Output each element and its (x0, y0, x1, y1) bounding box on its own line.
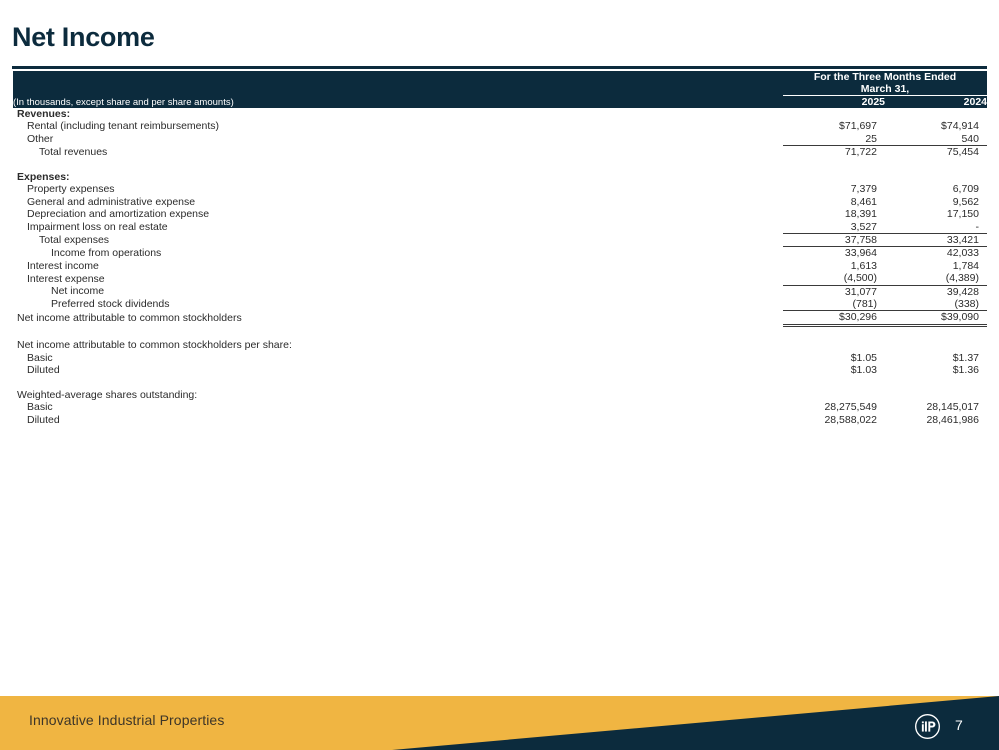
row-value-2025: 71,722 (783, 146, 885, 159)
row-value-2024: 1,784 (885, 260, 987, 272)
row-value-2025: $71,697 (783, 120, 885, 132)
period-header-line2: March 31, (783, 83, 987, 96)
row-value-2025: $1.03 (783, 364, 885, 376)
table-row: Total expenses37,75833,421 (13, 234, 987, 247)
row-label: Diluted (13, 414, 783, 426)
table-header-date-row: March 31, (13, 83, 987, 96)
row-label: General and administrative expense (13, 196, 783, 208)
table-spacer-row (13, 159, 987, 171)
header-spacer (13, 71, 783, 83)
table-row: Interest expense(4,500)(4,389) (13, 272, 987, 285)
row-label: Net income (13, 285, 783, 298)
table-row: Property expenses7,3796,709 (13, 183, 987, 195)
table-row: Preferred stock dividends(781)(338) (13, 298, 987, 311)
row-value-2024 (885, 171, 987, 183)
row-label: Property expenses (13, 183, 783, 195)
row-value-2025: 3,527 (783, 221, 885, 234)
table-row: Net income attributable to common stockh… (13, 339, 987, 351)
row-value-2025 (783, 159, 885, 171)
row-label: Interest income (13, 260, 783, 272)
table-row: Interest income1,6131,784 (13, 260, 987, 272)
row-label: Preferred stock dividends (13, 298, 783, 311)
row-label: Impairment loss on real estate (13, 221, 783, 234)
row-label: Total revenues (13, 146, 783, 159)
footer-bar: Innovative Industrial Properties (0, 696, 999, 750)
row-value-2024: 28,145,017 (885, 401, 987, 413)
table-row: Diluted28,588,02228,461,986 (13, 414, 987, 426)
table-row: Impairment loss on real estate3,527- (13, 221, 987, 234)
iip-circular-monogram-icon (914, 713, 941, 740)
row-value-2025: 31,077 (783, 285, 885, 298)
table-spacer-row (13, 325, 987, 339)
row-label: Income from operations (13, 247, 783, 260)
table-row: Depreciation and amortization expense18,… (13, 208, 987, 220)
row-value-2024: 28,461,986 (885, 414, 987, 426)
row-value-2024 (885, 389, 987, 401)
row-label: Expenses: (13, 171, 783, 183)
page-title: Net Income (12, 22, 155, 53)
table-header-year-row: (In thousands, except share and per shar… (13, 96, 987, 109)
row-label: Total expenses (13, 234, 783, 247)
row-value-2024: 9,562 (885, 196, 987, 208)
row-label: Rental (including tenant reimbursements) (13, 120, 783, 132)
row-value-2025: 28,275,549 (783, 401, 885, 413)
row-value-2024: - (885, 221, 987, 234)
row-label: Diluted (13, 364, 783, 376)
row-value-2025 (783, 171, 885, 183)
row-value-2025: 33,964 (783, 247, 885, 260)
table-row: Weighted-average shares outstanding: (13, 389, 987, 401)
table-row: Rental (including tenant reimbursements)… (13, 120, 987, 132)
row-label: Other (13, 133, 783, 146)
row-value-2025: $30,296 (783, 311, 885, 325)
period-header-line1: For the Three Months Ended (783, 71, 987, 83)
row-value-2025: 37,758 (783, 234, 885, 247)
row-label: Interest expense (13, 272, 783, 285)
row-label: Revenues: (13, 108, 783, 120)
table-row: Revenues: (13, 108, 987, 120)
row-value-2025: (4,500) (783, 272, 885, 285)
row-value-2024: 75,454 (885, 146, 987, 159)
column-header-2024: 2024 (885, 96, 987, 109)
net-income-table-container: For the Three Months Ended March 31, (In… (13, 71, 987, 426)
row-value-2024: 6,709 (885, 183, 987, 195)
table-spacer-row (13, 377, 987, 389)
row-value-2025 (783, 108, 885, 120)
row-value-2024 (885, 377, 987, 389)
row-label: Basic (13, 401, 783, 413)
row-value-2025: 7,379 (783, 183, 885, 195)
brand-name: Innovative Industrial Properties (29, 712, 224, 728)
row-value-2025 (783, 339, 885, 351)
table-row: General and administrative expense8,4619… (13, 196, 987, 208)
row-value-2025 (783, 389, 885, 401)
title-divider (12, 66, 987, 69)
row-value-2024: 33,421 (885, 234, 987, 247)
table-row: Net income31,07739,428 (13, 285, 987, 298)
row-value-2025: 25 (783, 133, 885, 146)
row-value-2025: 8,461 (783, 196, 885, 208)
row-label (13, 325, 783, 339)
row-value-2024: $1.37 (885, 352, 987, 364)
table-body: Revenues:Rental (including tenant reimbu… (13, 108, 987, 426)
row-value-2024: (338) (885, 298, 987, 311)
row-value-2024: (4,389) (885, 272, 987, 285)
table-header-period-row: For the Three Months Ended (13, 71, 987, 83)
row-value-2024 (885, 159, 987, 171)
column-header-2025: 2025 (783, 96, 885, 109)
table-row: Basic28,275,54928,145,017 (13, 401, 987, 413)
net-income-table: For the Three Months Ended March 31, (In… (13, 71, 987, 426)
row-value-2025: 1,613 (783, 260, 885, 272)
row-value-2024: $74,914 (885, 120, 987, 132)
row-value-2024 (885, 339, 987, 351)
table-row: Expenses: (13, 171, 987, 183)
row-label (13, 159, 783, 171)
row-value-2024: $1.36 (885, 364, 987, 376)
row-value-2025 (783, 325, 885, 339)
row-value-2024 (885, 108, 987, 120)
row-value-2024: $39,090 (885, 311, 987, 325)
table-row: Other25540 (13, 133, 987, 146)
table-row: Income from operations33,96442,033 (13, 247, 987, 260)
row-value-2025: (781) (783, 298, 885, 311)
row-value-2025: 18,391 (783, 208, 885, 220)
row-label: Net income attributable to common stockh… (13, 339, 783, 351)
table-row: Basic$1.05$1.37 (13, 352, 987, 364)
row-label: Basic (13, 352, 783, 364)
row-label: Net income attributable to common stockh… (13, 311, 783, 325)
page-number: 7 (955, 717, 963, 733)
row-label: Weighted-average shares outstanding: (13, 389, 783, 401)
header-spacer-2 (13, 83, 783, 96)
table-row: Net income attributable to common stockh… (13, 311, 987, 325)
table-row: Diluted$1.03$1.36 (13, 364, 987, 376)
row-value-2024: 540 (885, 133, 987, 146)
row-label (13, 377, 783, 389)
row-value-2024: 17,150 (885, 208, 987, 220)
row-value-2025: 28,588,022 (783, 414, 885, 426)
row-value-2025 (783, 377, 885, 389)
units-note: (In thousands, except share and per shar… (13, 96, 783, 109)
row-value-2024: 42,033 (885, 247, 987, 260)
row-value-2025: $1.05 (783, 352, 885, 364)
table-row: Total revenues71,72275,454 (13, 146, 987, 159)
row-label: Depreciation and amortization expense (13, 208, 783, 220)
row-value-2024 (885, 325, 987, 339)
row-value-2024: 39,428 (885, 285, 987, 298)
